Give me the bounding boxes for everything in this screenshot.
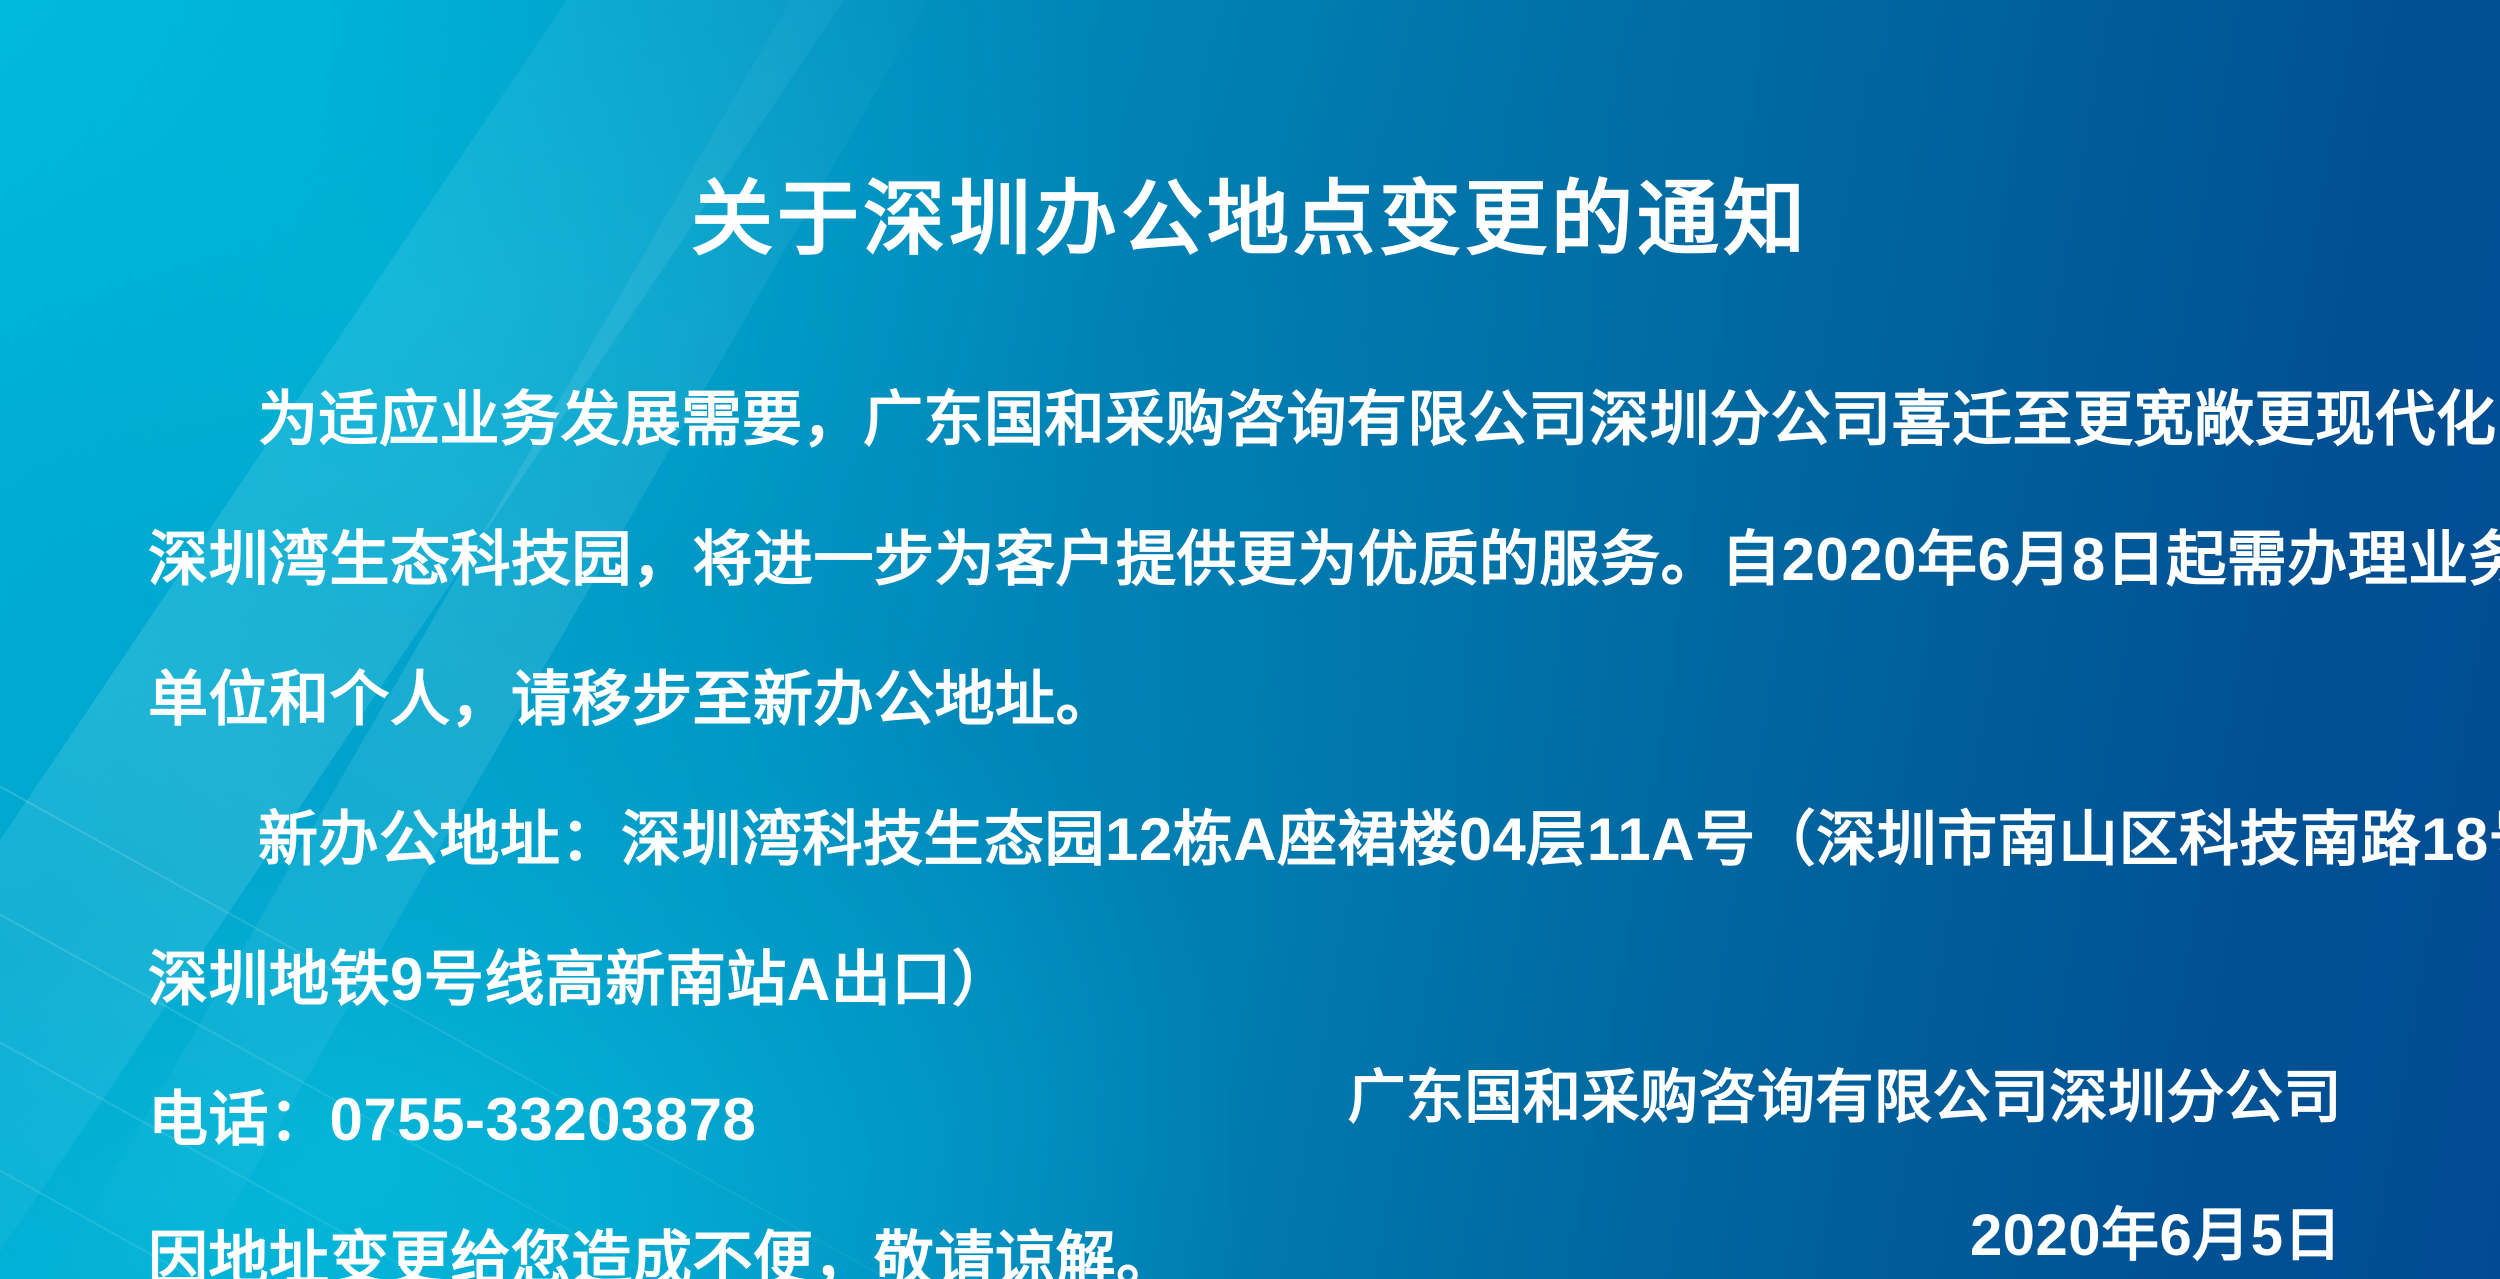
signature-block: 广东国和采购咨询有限公司深圳分公司 2020年6月5日: [1347, 1000, 2342, 1279]
page-title: 关于深圳办公地点变更的通知: [0, 177, 2500, 263]
body-line-1: 为适应业务发展需要，广东国和采购咨询有限公司深圳分公司喜迁至更宽敞更现代化的: [148, 380, 2352, 460]
signature-date: 2020年6月5日: [1347, 1196, 2342, 1276]
notice-poster: 关于深圳办公地点变更的通知 为适应业务发展需要，广东国和采购咨询有限公司深圳分公…: [0, 0, 2500, 1279]
body-line-2: 深圳湾生态科技园，将进一步为客户提供更为优质的服务。自2020年6月8日起需办理…: [148, 520, 2352, 600]
signature-organization: 广东国和采购咨询有限公司深圳分公司: [1347, 1058, 2342, 1138]
body-line-3: 单位和个人，请移步至新办公地址。: [148, 660, 2352, 740]
address-line-1: 新办公地址：深圳湾科技生态园12栋A座裙楼04层11A号（深圳市南山区科技南路1…: [148, 800, 2352, 880]
notice-content: 关于深圳办公地点变更的通知 为适应业务发展需要，广东国和采购咨询有限公司深圳分公…: [0, 0, 2500, 1279]
